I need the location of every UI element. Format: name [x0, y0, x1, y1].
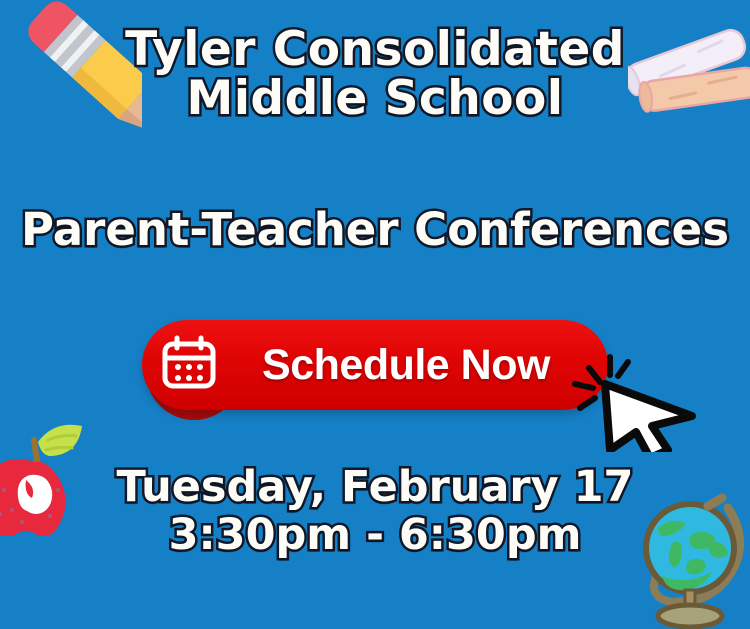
event-title: Parent-Teacher Conferences	[0, 203, 750, 256]
school-name-heading: Tyler Consolidated Middle School	[0, 26, 750, 124]
calendar-icon	[158, 333, 220, 398]
schedule-now-button[interactable]: Schedule Now	[142, 320, 608, 410]
schedule-now-button-label: Schedule Now	[220, 341, 608, 390]
school-name-line-1: Tyler Consolidated	[0, 26, 750, 75]
flyer-canvas: Tyler Consolidated Middle School Parent-…	[0, 0, 750, 629]
school-name-line-2: Middle School	[0, 75, 750, 124]
event-time-range: 3:30pm - 6:30pm	[0, 511, 750, 559]
event-title-heading: Parent-Teacher Conferences	[0, 203, 750, 256]
cta-area: Schedule Now	[140, 320, 610, 422]
event-date: Tuesday, February 17	[0, 463, 750, 511]
event-details: Tuesday, February 17 3:30pm - 6:30pm	[0, 463, 750, 559]
